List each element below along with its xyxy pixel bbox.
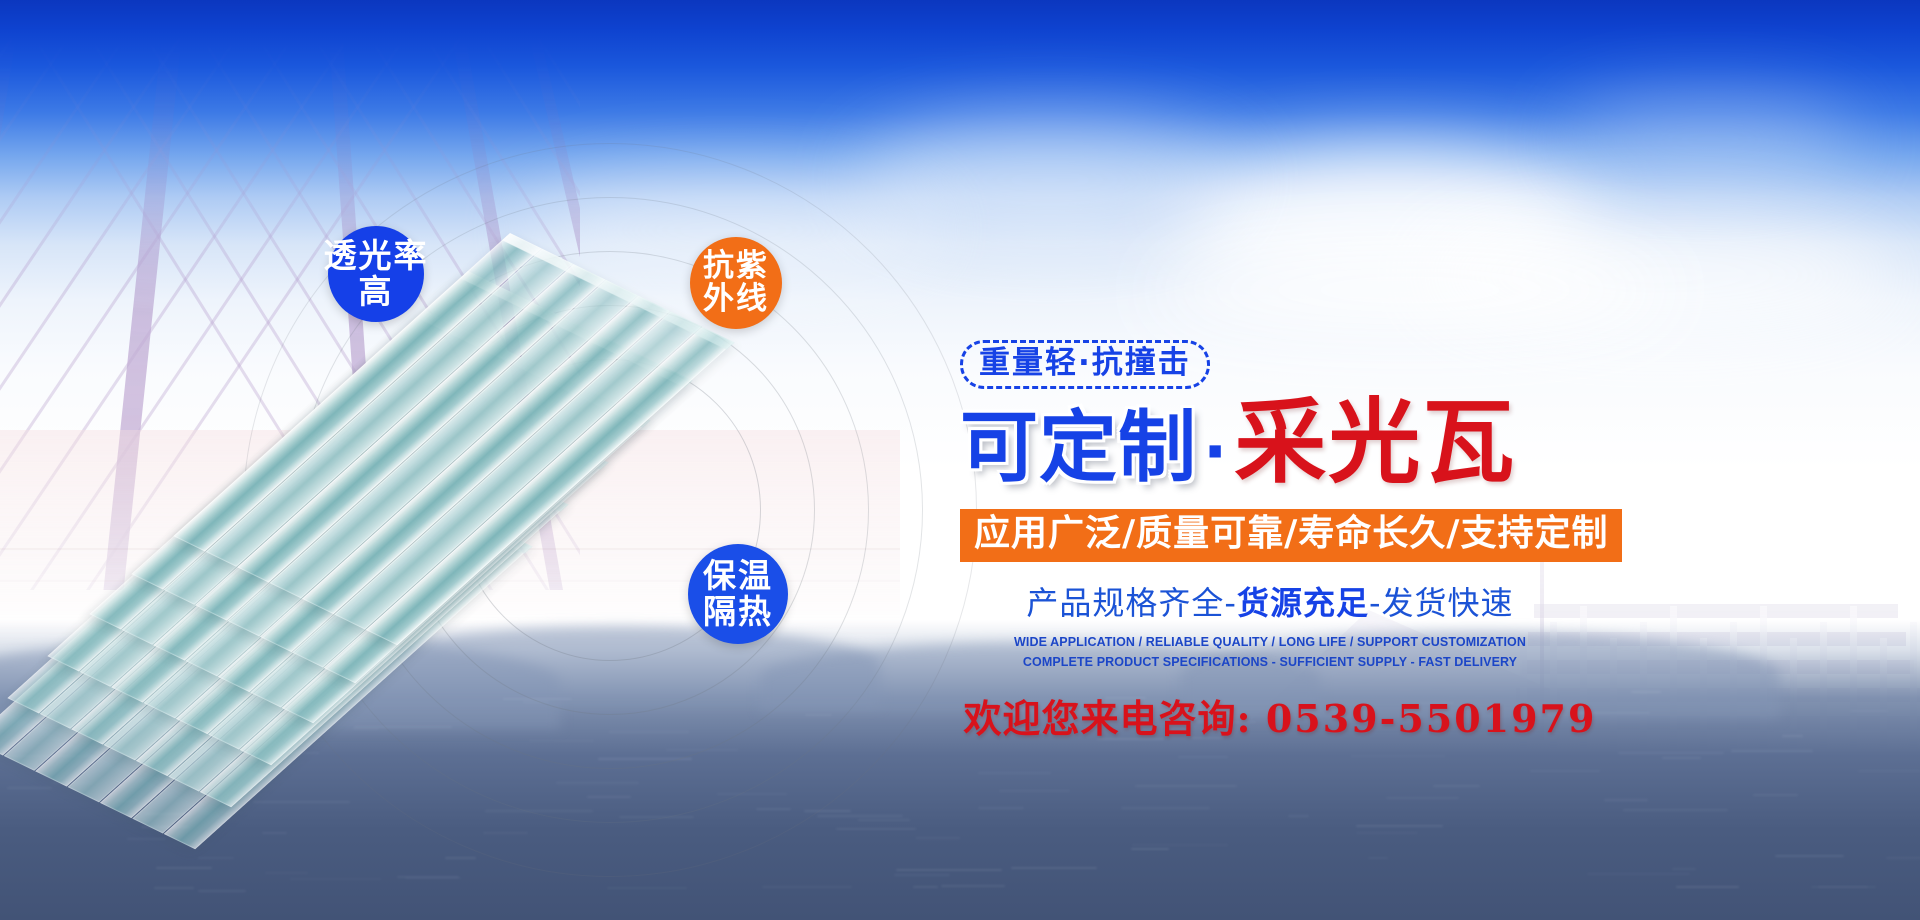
english-line-2: COMPLETE PRODUCT SPECIFICATIONS - SUFFIC… <box>960 653 1580 672</box>
cloud <box>1150 250 1670 330</box>
water-glint <box>1011 867 1097 869</box>
promo-banner: 透光率高抗紫外线耐候性强保温隔热 重量轻·抗撞击 可定制 · 采光瓦 应用广泛/… <box>0 0 1920 920</box>
water-glint <box>156 867 212 869</box>
headline-customizable: 可定制 <box>960 409 1197 487</box>
water-glint <box>1433 785 1480 787</box>
water-glint <box>607 887 687 889</box>
water-glint <box>1351 755 1445 757</box>
headline: 可定制 · 采光瓦 <box>960 397 1660 489</box>
subline-emphasis: 货源充足 <box>1237 584 1369 622</box>
badge-line-1: 抗紫 <box>703 250 769 283</box>
water-glint <box>1530 770 1600 772</box>
contact-phone-number: 0539-5501979 <box>1266 696 1597 741</box>
water-glint <box>1858 770 1920 772</box>
water-glint <box>1623 809 1728 811</box>
water-glint <box>198 857 234 859</box>
water-glint <box>1731 750 1813 752</box>
water-glint <box>1386 797 1459 799</box>
badge-line-2: 隔热 <box>703 594 773 630</box>
water-glint <box>762 886 852 888</box>
subline-pre: 产品规格齐全- <box>1026 584 1237 622</box>
badge-line-1: 透光率 <box>324 238 429 274</box>
badge-line-2: 外线 <box>703 283 769 316</box>
water-glint <box>1288 815 1309 817</box>
water-glint <box>999 790 1070 792</box>
supply-subline: 产品规格齐全-货源充足-发货快速 <box>960 578 1580 624</box>
water-glint <box>1811 886 1876 888</box>
water-glint <box>913 886 938 888</box>
feature-badge-light-transmission[interactable]: 透光率高 <box>328 226 424 322</box>
water-glint <box>1604 799 1648 801</box>
badge-line-2: 高 <box>359 274 394 310</box>
water-glint <box>1356 832 1418 834</box>
feature-badge-anti-uv[interactable]: 抗紫外线 <box>690 237 782 329</box>
water-glint <box>1368 857 1388 859</box>
water-glint <box>7 787 52 789</box>
headline-product-name: 采光瓦 <box>1234 397 1516 489</box>
contact-line: 欢迎您来电咨询: 0539-5501979 <box>960 688 1600 743</box>
water-glint <box>154 887 194 889</box>
water-glint <box>1356 825 1443 827</box>
water-glint <box>198 890 246 892</box>
water-glint <box>1775 855 1844 857</box>
cloud <box>1560 95 1860 185</box>
feature-badge-thermal-insulation[interactable]: 保温隔热 <box>688 544 788 644</box>
water-glint <box>978 772 1051 774</box>
water-glint <box>978 807 1024 809</box>
contact-label: 欢迎您来电咨询: <box>964 696 1252 741</box>
lightweight-impact-tag: 重量轻·抗撞击 <box>960 340 1210 389</box>
water-glint <box>1618 752 1724 754</box>
english-taglines: WIDE APPLICATION / RELIABLE QUALITY / LO… <box>960 633 1580 672</box>
headline-separator-dot: · <box>1197 421 1234 485</box>
water-glint <box>1662 757 1701 759</box>
water-glint <box>1132 844 1228 846</box>
water-glint <box>1782 735 1803 737</box>
water-glint <box>1131 848 1169 850</box>
water-glint <box>1135 785 1237 787</box>
water-glint <box>1886 857 1920 859</box>
badge-line-1: 保温 <box>703 558 773 594</box>
water-glint <box>1587 873 1690 875</box>
water-glint <box>1178 756 1228 758</box>
water-glint <box>1753 794 1798 796</box>
marketing-copy-block: 重量轻·抗撞击 可定制 · 采光瓦 应用广泛/质量可靠/寿命长久/支持定制 产品… <box>960 340 1660 743</box>
water-glint <box>127 838 166 840</box>
water-glint <box>1672 868 1696 870</box>
water-glint <box>1676 886 1739 888</box>
water-glint <box>1121 807 1210 809</box>
feature-list-bar: 应用广泛/质量可靠/寿命长久/支持定制 <box>960 509 1622 563</box>
english-line-1: WIDE APPLICATION / RELIABLE QUALITY / LO… <box>960 633 1580 652</box>
water-glint <box>1850 710 1888 712</box>
subline-post: -发货快速 <box>1369 584 1514 622</box>
water-glint <box>941 885 1005 887</box>
